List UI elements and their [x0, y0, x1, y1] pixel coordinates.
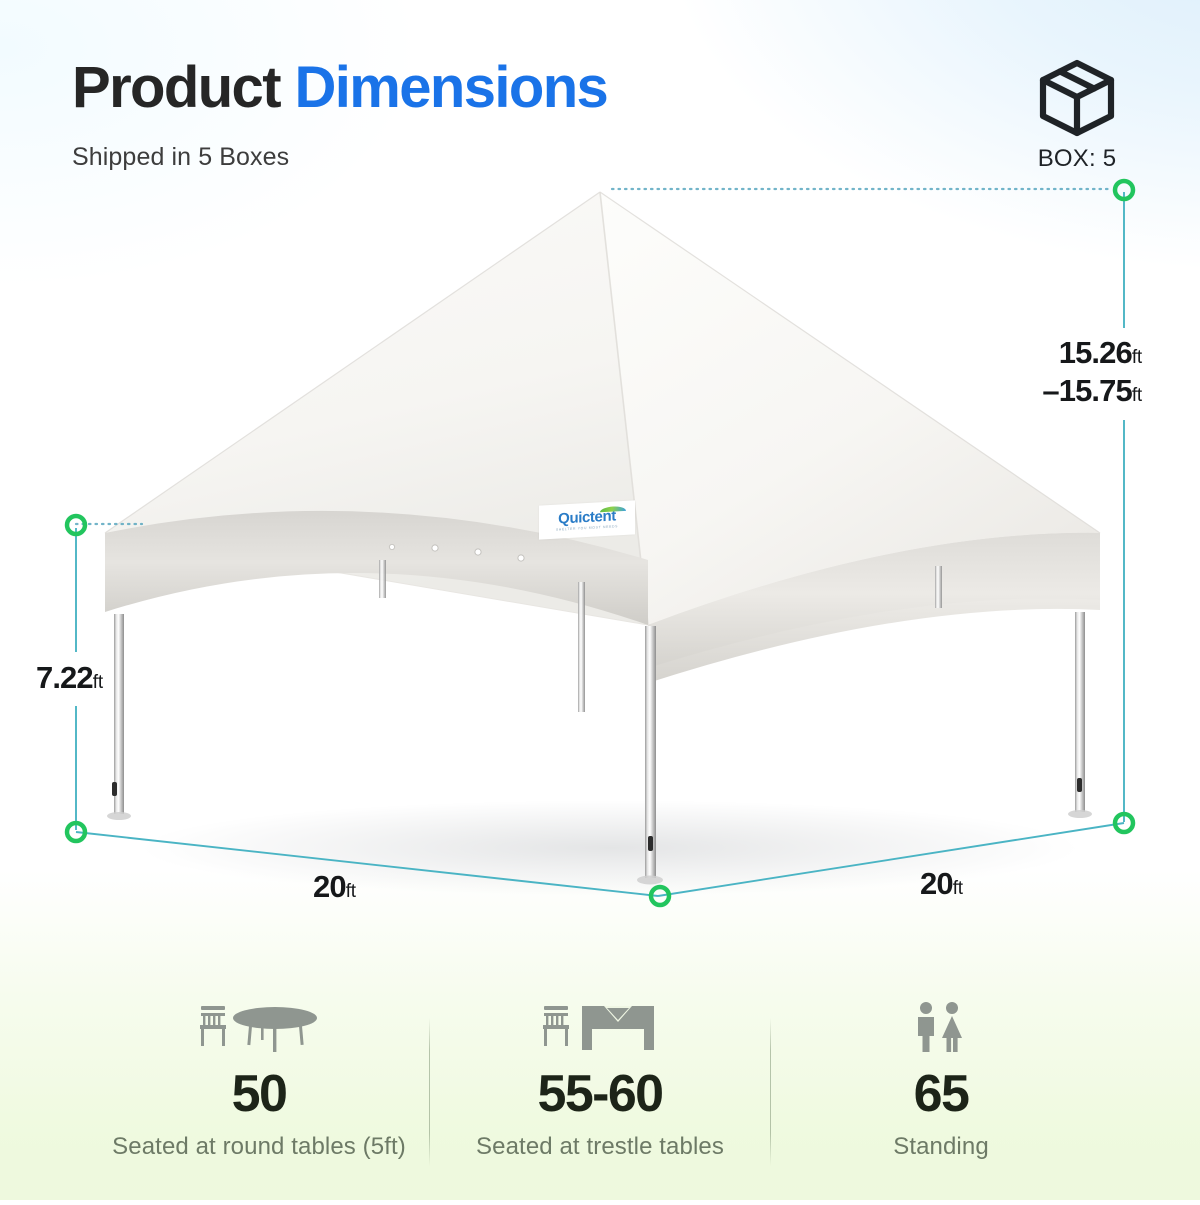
- side-height-unit: ft: [93, 672, 103, 693]
- height-unit-1: ft: [1132, 347, 1142, 368]
- height-min-row: –15.75ft: [1042, 372, 1142, 410]
- round-table-glyph: [233, 1007, 317, 1052]
- capacity-stats: 50 Seated at round tables (5ft): [0, 998, 1200, 1166]
- side-height-dimension-label: 7.22ft: [36, 660, 103, 696]
- tent-pole-left: [107, 614, 131, 820]
- chair-round-table-icon: [101, 998, 417, 1054]
- stat-standing: 65 Standing: [771, 998, 1111, 1163]
- woman-glyph: [942, 1002, 962, 1052]
- height-value-min: 15.26: [1059, 335, 1132, 370]
- chair-glyph: [200, 1006, 226, 1046]
- height-unit-2: ft: [1132, 385, 1142, 406]
- width-left-value: 20: [313, 869, 346, 904]
- stat-caption: Seated at trestle tables: [442, 1132, 758, 1163]
- stat-value: 55-60: [442, 1068, 758, 1120]
- stat-trestle-tables: 55-60 Seated at trestle tables: [430, 998, 770, 1163]
- stat-caption: Seated at round tables (5ft): [101, 1132, 417, 1163]
- height-value-max: –15.75: [1042, 373, 1131, 408]
- height-max-row: 15.26ft: [1042, 334, 1142, 372]
- tent-pole-right: [1068, 612, 1092, 818]
- brand-swoosh-icon: [600, 506, 626, 512]
- width-left-dimension-label: 20ft: [313, 869, 356, 905]
- height-dimension-label: 15.26ft –15.75ft: [1042, 334, 1142, 411]
- side-height-value: 7.22: [36, 660, 93, 695]
- chair-glyph: [543, 1006, 569, 1046]
- tent-pole-back-center: [578, 582, 585, 712]
- width-left-unit: ft: [346, 881, 356, 902]
- width-right-unit: ft: [953, 878, 963, 899]
- brand-logo: Quictent SHELTER YOU MOST NEEDS: [539, 500, 635, 539]
- chair-trestle-table-icon: [442, 998, 758, 1054]
- tent-pole-back-right: [935, 566, 942, 608]
- stat-caption: Standing: [783, 1132, 1099, 1163]
- stat-value: 50: [101, 1068, 417, 1120]
- tent-pole-back-left: [379, 560, 386, 598]
- trestle-table-glyph: [582, 1006, 654, 1050]
- width-right-dimension-label: 20ft: [920, 866, 963, 902]
- people-standing-icon: [783, 998, 1099, 1054]
- man-glyph: [918, 1002, 934, 1052]
- stat-round-tables: 50 Seated at round tables (5ft): [89, 998, 429, 1163]
- stat-value: 65: [783, 1068, 1099, 1120]
- width-right-value: 20: [920, 866, 953, 901]
